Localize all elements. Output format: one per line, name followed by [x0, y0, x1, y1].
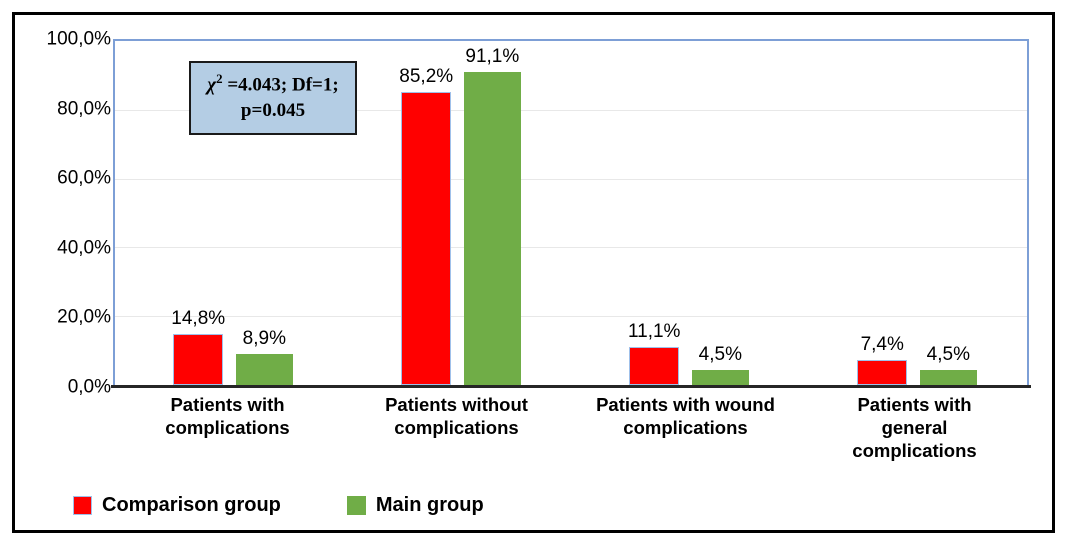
category-label-2: Patients with wound complications — [596, 393, 775, 439]
bar-value-label: 14,8% — [171, 309, 225, 328]
y-tick-label: 100,0% — [25, 30, 111, 49]
legend-swatch-icon — [347, 496, 366, 515]
bar-comparison-group[interactable] — [173, 334, 223, 385]
bar-group: 85,2% 91,1% — [343, 41, 571, 385]
bar-main-group[interactable] — [920, 370, 977, 385]
bar-main-group[interactable] — [236, 354, 293, 385]
chart-frame: 100,0% 80,0% 60,0% 40,0% 20,0% 0,0% 14,8… — [12, 12, 1055, 533]
legend-item-main-group[interactable]: Main group — [347, 494, 484, 517]
bar-comparison-group[interactable] — [857, 360, 907, 385]
bar-value-label: 4,5% — [927, 345, 970, 364]
legend-item-comparison-group[interactable]: Comparison group — [73, 494, 281, 517]
y-tick-label: 20,0% — [25, 308, 111, 327]
bar-comparison-group[interactable] — [629, 347, 679, 385]
category-label-line: complications — [852, 439, 976, 462]
category-label-line: Patients with wound — [596, 393, 775, 416]
y-tick-label: 40,0% — [25, 238, 111, 257]
bar-value-label: 8,9% — [243, 329, 286, 348]
bar-value-label: 11,1% — [628, 322, 680, 341]
y-tick-label: 80,0% — [25, 99, 111, 118]
p-value-text: p=0.045 — [241, 100, 305, 121]
chi-symbol: χ — [207, 74, 216, 95]
legend-swatch-icon — [73, 496, 92, 515]
plot-area: 14,8% 8,9% 85,2% 91,1% 11,1% 4,5% 7,4% 4… — [113, 39, 1029, 387]
category-label-line: Patients without — [385, 393, 528, 416]
x-axis-categories: Patients with complications Patients wit… — [113, 393, 1029, 457]
bar-group: 7,4% 4,5% — [799, 41, 1027, 385]
y-tick-label: 60,0% — [25, 169, 111, 188]
chi-stat-text: =4.043; Df=1; — [223, 74, 339, 95]
bar-value-label: 91,1% — [465, 47, 519, 66]
bar-value-label: 85,2% — [399, 67, 453, 86]
y-tick-label: 0,0% — [25, 378, 111, 397]
bar-main-group[interactable] — [464, 72, 521, 385]
legend-label: Main group — [376, 494, 484, 517]
bar-value-label: 7,4% — [861, 335, 904, 354]
chi-square-annotation: χ2 =4.043; Df=1; p=0.045 — [189, 61, 357, 135]
category-label-line: complications — [165, 416, 289, 439]
bar-value-label: 4,5% — [699, 345, 742, 364]
bar-group: 11,1% 4,5% — [571, 41, 799, 385]
category-label-3: Patients with general complications — [852, 393, 976, 462]
legend-label: Comparison group — [102, 494, 281, 517]
category-label-1: Patients without complications — [385, 393, 528, 439]
bar-main-group[interactable] — [692, 370, 749, 385]
chart-legend: Comparison group Main group — [73, 487, 484, 523]
y-axis: 100,0% 80,0% 60,0% 40,0% 20,0% 0,0% — [15, 39, 111, 387]
category-label-line: Patients with general — [852, 393, 976, 439]
bar-comparison-group[interactable] — [401, 92, 451, 385]
x-axis-line — [111, 385, 1031, 388]
category-label-line: complications — [596, 416, 775, 439]
category-label-line: Patients with — [165, 393, 289, 416]
category-label-line: complications — [385, 416, 528, 439]
category-label-0: Patients with complications — [165, 393, 289, 439]
